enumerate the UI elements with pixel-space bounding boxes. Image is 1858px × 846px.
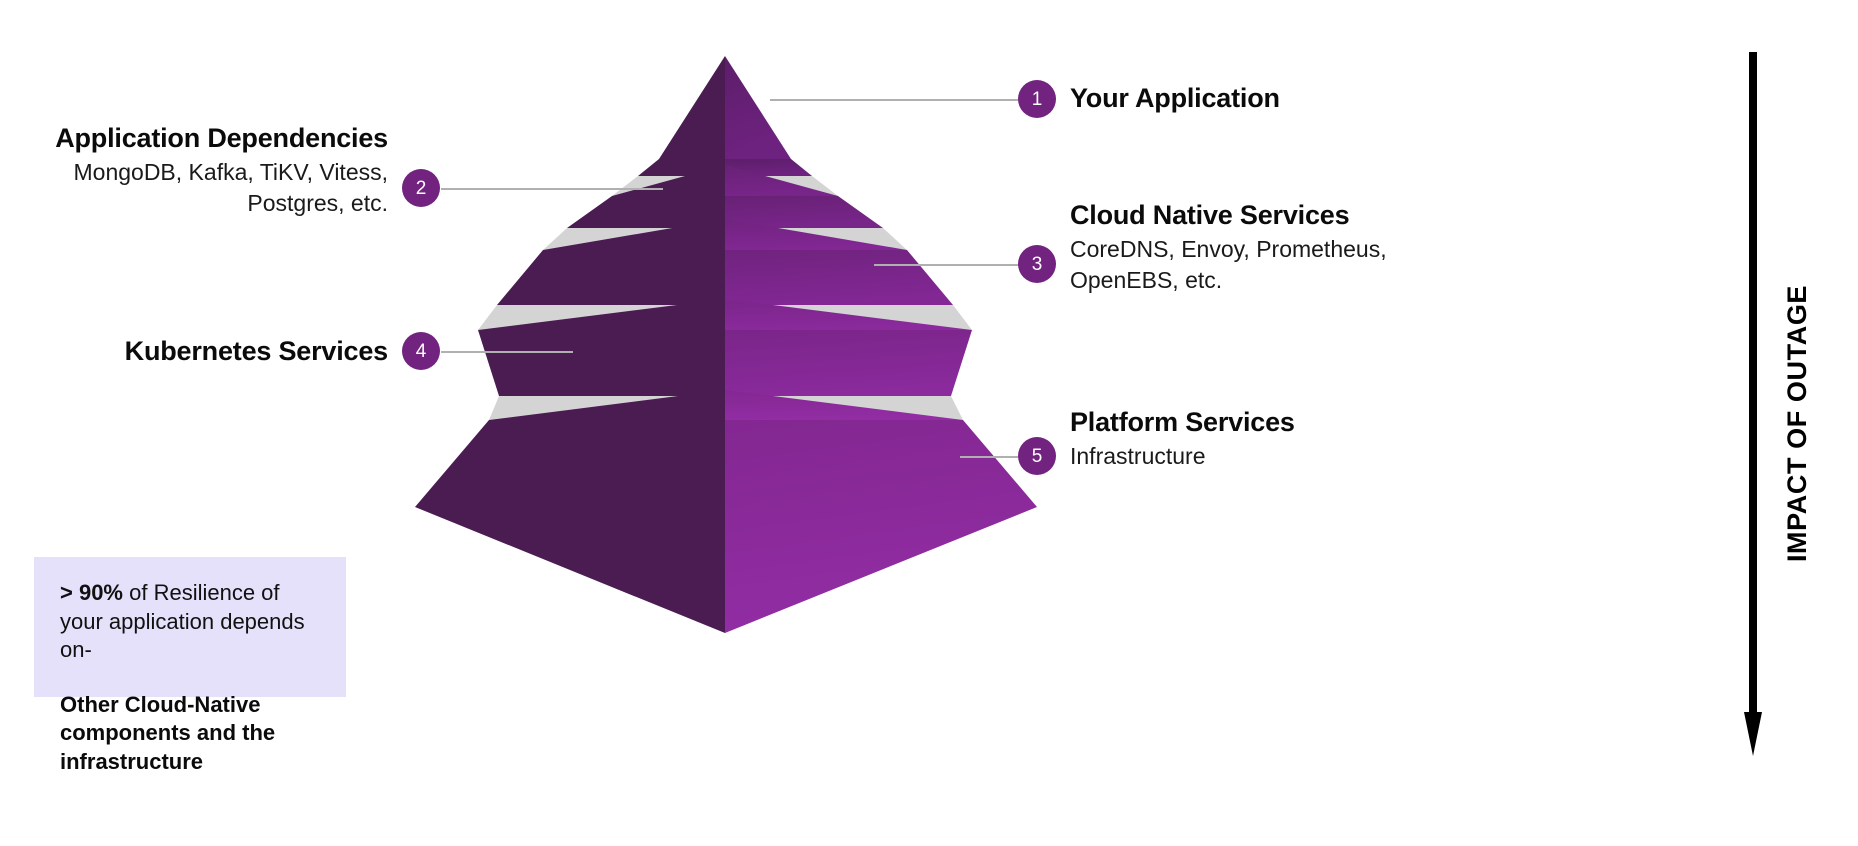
tier-label-3: Cloud Native Services CoreDNS, Envoy, Pr…: [1070, 199, 1400, 295]
connector-line-5: [960, 456, 1018, 458]
tier-badge-5[interactable]: 5: [1018, 437, 1056, 475]
tier-label-1: Your Application: [1070, 82, 1490, 115]
tier-badge-4[interactable]: 4: [402, 332, 440, 370]
connector-line-3: [874, 264, 1019, 266]
tier-badge-1-number: 1: [1032, 90, 1043, 109]
callout-emphasis: > 90%: [60, 580, 123, 605]
tier-badge-3-number: 3: [1032, 255, 1043, 274]
tier-label-5-subtitle: Infrastructure: [1070, 441, 1400, 472]
impact-of-outage-axis-label: IMPACT OF OUTAGE: [1768, 0, 1828, 846]
tier-badge-2[interactable]: 2: [402, 169, 440, 207]
connector-line-4: [441, 351, 573, 353]
connector-line-2: [441, 188, 663, 190]
tier-badge-1[interactable]: 1: [1018, 80, 1056, 118]
tier-label-3-title: Cloud Native Services: [1070, 199, 1400, 232]
tier-badge-2-number: 2: [416, 179, 427, 198]
impact-of-outage-text: IMPACT OF OUTAGE: [1783, 284, 1814, 561]
tier-label-3-subtitle: CoreDNS, Envoy, Prometheus, OpenEBS, etc…: [1070, 234, 1400, 295]
callout-line-2: Other Cloud-Native components and the in…: [60, 691, 320, 777]
down-arrow-icon: [1744, 52, 1762, 756]
tier-label-4-title: Kubernetes Services: [40, 335, 388, 368]
tier-label-2-title: Application Dependencies: [40, 122, 388, 155]
diagram-canvas: 1 2 3 4 5 Your Application Application D…: [0, 0, 1858, 846]
resilience-callout: > 90% of Resilience of your application …: [34, 557, 346, 697]
tier-label-5-title: Platform Services: [1070, 406, 1400, 439]
tier-label-5: Platform Services Infrastructure: [1070, 406, 1400, 472]
callout-line-1: > 90% of Resilience of your application …: [60, 579, 320, 665]
tier-label-2: Application Dependencies MongoDB, Kafka,…: [40, 122, 388, 218]
tier-label-1-title: Your Application: [1070, 82, 1490, 115]
tier-badge-4-number: 4: [416, 342, 427, 361]
tier-badge-5-number: 5: [1032, 447, 1043, 466]
tier-label-2-subtitle: MongoDB, Kafka, TiKV, Vitess, Postgres, …: [40, 157, 388, 218]
tier-badge-3[interactable]: 3: [1018, 245, 1056, 283]
tier-label-4: Kubernetes Services: [40, 335, 388, 368]
connector-line-1: [770, 99, 1018, 101]
